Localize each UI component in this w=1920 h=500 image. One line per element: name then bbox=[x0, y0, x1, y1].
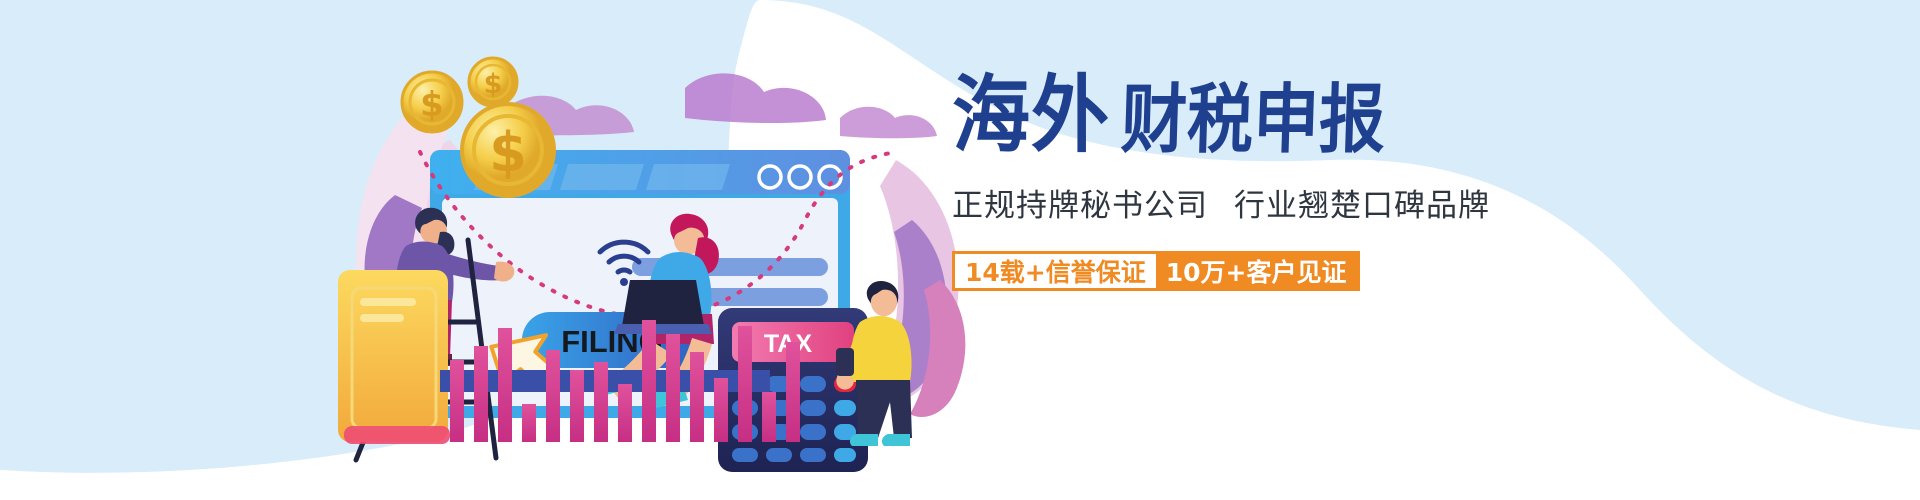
promo-banner: $ $ $ bbox=[0, 0, 1920, 500]
headline: 海外 财税申报 bbox=[952, 80, 1592, 158]
coin-small-top: $ bbox=[469, 58, 517, 106]
badge-group: 14载+信誉保证 10万+客户见证 bbox=[952, 251, 1592, 291]
subheadline-left: 正规持牌秘书公司 bbox=[952, 188, 1208, 224]
copy-block: 海外 财税申报 正规持牌秘书公司行业翘楚口碑品牌 14载+信誉保证 10万+客户… bbox=[952, 80, 1592, 291]
badge-years[interactable]: 14载+信誉保证 bbox=[952, 251, 1156, 291]
tax-filing-illustration: $ $ $ bbox=[300, 40, 980, 460]
svg-text:$: $ bbox=[489, 121, 527, 184]
headline-secondary: 财税申报 bbox=[1120, 83, 1386, 158]
svg-text:$: $ bbox=[484, 69, 503, 100]
coin-large: $ bbox=[462, 104, 554, 196]
svg-text:$: $ bbox=[420, 85, 444, 125]
headline-primary: 海外 bbox=[952, 74, 1110, 158]
subheadline-right: 行业翘楚口碑品牌 bbox=[1234, 188, 1490, 224]
subheadline: 正规持牌秘书公司行业翘楚口碑品牌 bbox=[952, 180, 1592, 225]
document-folder-stack bbox=[338, 270, 450, 444]
coin-small-left: $ bbox=[402, 72, 462, 132]
badge-customers[interactable]: 10万+客户见证 bbox=[1156, 251, 1360, 291]
